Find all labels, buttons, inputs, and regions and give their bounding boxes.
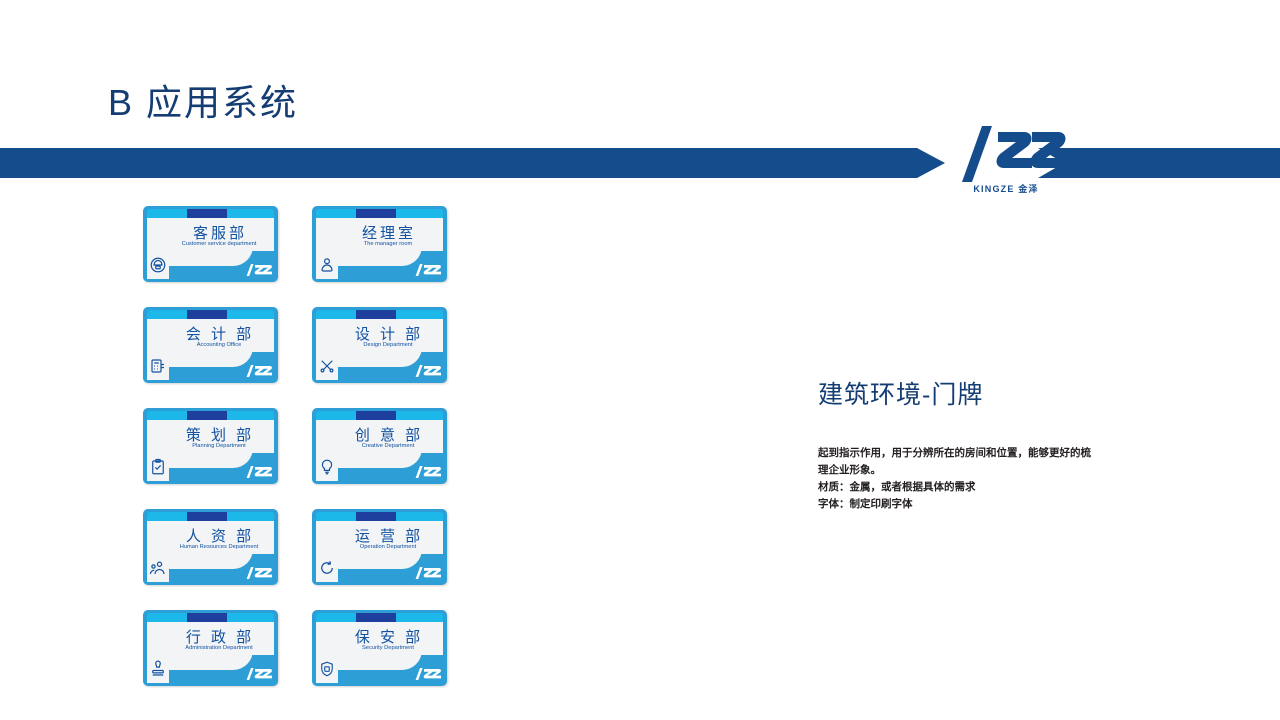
- plate-top-accent: [187, 512, 227, 521]
- kingze-mini-logo-icon: [413, 464, 441, 482]
- description-line-4: 字体：制定印刷字体: [818, 496, 1118, 513]
- sign-plate[interactable]: 设 计 部 Design Department: [312, 307, 447, 383]
- plate-title-cn: 会 计 部: [171, 323, 269, 344]
- plate-top-accent: [187, 310, 227, 319]
- plate-title-en: Planning Department: [170, 443, 269, 449]
- description-line-2: 理企业形象。: [818, 462, 1118, 479]
- plate-top-accent: [356, 411, 396, 420]
- plate-top-accent: [187, 209, 227, 218]
- description-body: 起到指示作用，用于分辨所在的房间和位置，能够更好的梳 理企业形象。 材质：金属，…: [818, 445, 1118, 513]
- plate-title-cn: 创 意 部: [340, 424, 438, 445]
- sign-plate-grid: 客服部 Customer service department: [143, 206, 463, 711]
- plate-top-accent: [356, 209, 396, 218]
- sign-plate[interactable]: 运 营 部 Operation Department: [312, 509, 447, 585]
- plate-title-en: Operation Department: [339, 544, 438, 550]
- plate-top-accent: [187, 411, 227, 420]
- plate-title-en: Accounting Office: [170, 342, 269, 348]
- kingze-mini-logo-icon: [413, 666, 441, 684]
- headset-icon: [149, 256, 167, 274]
- sign-row: 客服部 Customer service department: [143, 206, 463, 282]
- plate-title-en: Creative Department: [339, 443, 438, 449]
- calculator-icon: [149, 357, 167, 375]
- page-title-letter: B: [108, 82, 134, 123]
- plate-title-en: Customer service department: [170, 241, 269, 247]
- kingze-mini-logo-icon: [413, 262, 441, 280]
- plate-title-en: Human Resources Department: [170, 544, 269, 550]
- plate-title-en: Security Department: [339, 645, 438, 651]
- sign-plate[interactable]: 创 意 部 Creative Department: [312, 408, 447, 484]
- stamp-icon: [149, 660, 167, 678]
- plate-top-accent: [356, 613, 396, 622]
- plate-top-accent: [187, 613, 227, 622]
- sign-row: 人 资 部 Human Resources Department: [143, 509, 463, 585]
- sign-plate[interactable]: 策 划 部 Planning Department: [143, 408, 278, 484]
- kingze-mini-logo-icon: [244, 666, 272, 684]
- compass-tools-icon: [318, 357, 336, 375]
- plate-top-accent: [356, 512, 396, 521]
- brand-logo: KINGZE 金泽: [946, 124, 1066, 202]
- sign-row: 会 计 部 Accounting Office: [143, 307, 463, 383]
- plate-title-cn: 策 划 部: [171, 424, 269, 445]
- plate-title-en: Administration Department: [170, 645, 269, 651]
- sign-plate[interactable]: 经理室 The manager room: [312, 206, 447, 282]
- kingze-mini-logo-icon: [413, 565, 441, 583]
- kingze-mini-logo-icon: [244, 262, 272, 280]
- kingze-mini-logo-icon: [244, 464, 272, 482]
- plate-title-cn: 运 营 部: [340, 525, 438, 546]
- page-title-text: 应用系统: [146, 82, 298, 123]
- sign-row: 策 划 部 Planning Department: [143, 408, 463, 484]
- sign-plate[interactable]: 会 计 部 Accounting Office: [143, 307, 278, 383]
- kingze-mini-logo-icon: [244, 363, 272, 381]
- plate-title-cn: 保 安 部: [340, 626, 438, 647]
- plate-title-cn: 设 计 部: [340, 323, 438, 344]
- lightbulb-icon: [318, 458, 336, 476]
- header-band-left: [0, 148, 945, 178]
- refresh-cycle-icon: [318, 559, 336, 577]
- plate-title-cn: 客服部: [171, 222, 269, 243]
- description-title: 建筑环境-门牌: [818, 375, 1118, 411]
- header-band-right: [1038, 148, 1280, 178]
- description-line-3: 材质：金属，或者根据具体的需求: [818, 479, 1118, 496]
- sign-plate[interactable]: 保 安 部 Security Department: [312, 610, 447, 686]
- brand-name: KINGZE 金泽: [946, 182, 1066, 195]
- sign-plate[interactable]: 行 政 部 Administration Department: [143, 610, 278, 686]
- kingze-monogram-icon: [946, 124, 1066, 184]
- shield-bao-icon: [318, 660, 336, 678]
- sign-plate[interactable]: 客服部 Customer service department: [143, 206, 278, 282]
- kingze-mini-logo-icon: [244, 565, 272, 583]
- description-block: 建筑环境-门牌 起到指示作用，用于分辨所在的房间和位置，能够更好的梳 理企业形象…: [818, 375, 1118, 513]
- plate-title-cn: 行 政 部: [171, 626, 269, 647]
- people-group-icon: [149, 559, 167, 577]
- plate-top-accent: [356, 310, 396, 319]
- sign-plate[interactable]: 人 资 部 Human Resources Department: [143, 509, 278, 585]
- description-line-1: 起到指示作用，用于分辨所在的房间和位置，能够更好的梳: [818, 445, 1118, 462]
- plate-title-en: The manager room: [339, 241, 438, 247]
- kingze-mini-logo-icon: [413, 363, 441, 381]
- clipboard-icon: [149, 458, 167, 476]
- plate-title-en: Design Department: [339, 342, 438, 348]
- plate-title-cn: 经理室: [340, 222, 438, 243]
- person-icon: [318, 256, 336, 274]
- page-title: B应用系统: [108, 74, 298, 126]
- sign-row: 行 政 部 Administration Department: [143, 610, 463, 686]
- slide-canvas: B应用系统 KINGZE 金泽 客服部 Customer service dep…: [0, 0, 1280, 720]
- plate-title-cn: 人 资 部: [171, 525, 269, 546]
